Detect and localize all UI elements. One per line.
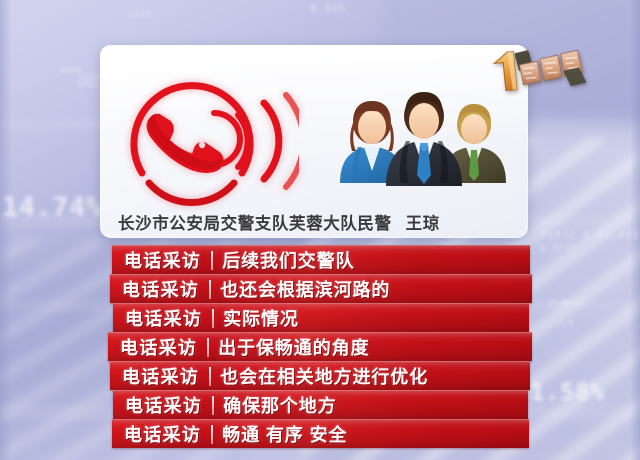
- subtitle-divider: [211, 251, 213, 270]
- subtitle-text: 确保那个地方: [223, 392, 336, 418]
- subtitle-text: 后续我们交警队: [222, 247, 354, 273]
- subtitle-source-tag: 电话采访: [108, 334, 197, 360]
- subtitle-source-tag: 电话采访: [113, 305, 202, 331]
- subtitle-divider: [209, 367, 211, 386]
- subtitle-divider: [212, 309, 214, 328]
- caller-name: 王琼: [406, 215, 440, 233]
- subtitle-row: 电话采访出于保畅通的角度: [108, 332, 532, 361]
- telephone-ringing-icon: [114, 55, 299, 215]
- caller-title: 长沙市公安局交警支队芙蓉大队民警: [118, 215, 392, 233]
- subtitle-row: 电话采访也会在相关地方进行优化: [110, 361, 530, 390]
- subtitle-source-tag: 电话采访: [110, 276, 199, 302]
- background-number: 0.32%: [310, 2, 346, 15]
- subtitle-source-tag: 电话采访: [112, 421, 201, 447]
- subtitle-text: 也会在相关地方进行优化: [220, 363, 428, 389]
- subtitle-row: 电话采访也还会根据滨河路的: [110, 274, 532, 303]
- subtitle-text: 出于保畅通的角度: [218, 334, 369, 360]
- subtitle-row: 电话采访确保那个地方: [113, 390, 528, 419]
- background-number: 81032 2 92.081: [540, 228, 640, 241]
- subtitle-source-tag: 电话采访: [110, 363, 199, 389]
- subtitle-text: 畅通 有序 安全: [222, 421, 347, 447]
- subtitle-source-tag: 电话采访: [113, 392, 202, 418]
- program-logo: [487, 38, 595, 100]
- subtitle-stack: 电话采访后续我们交警队电话采访也还会根据滨河路的电话采访实际情况电话采访出于保畅…: [0, 243, 640, 455]
- caller-caption: 长沙市公安局交警支队芙蓉大队民警王琼: [100, 210, 528, 234]
- subtitle-text: 也还会根据滨河路的: [220, 276, 390, 302]
- subtitle-row: 电话采访畅通 有序 安全: [112, 419, 529, 448]
- subtitle-divider: [211, 425, 213, 444]
- subtitle-divider: [212, 396, 214, 415]
- subtitle-divider: [207, 338, 209, 357]
- caller-info-card: 长沙市公安局交警支队芙蓉大队民警王琼: [100, 45, 528, 238]
- background-number: 1103: [128, 10, 152, 20]
- subtitle-text: 实际情况: [223, 305, 299, 331]
- subtitle-row: 电话采访实际情况: [113, 303, 529, 332]
- background-number: 14.74%: [2, 192, 103, 223]
- subtitle-row: 电话采访后续我们交警队: [112, 245, 530, 274]
- subtitle-source-tag: 电话采访: [112, 247, 201, 273]
- subtitle-divider: [209, 280, 211, 299]
- background-number: 8703: [78, 80, 99, 89]
